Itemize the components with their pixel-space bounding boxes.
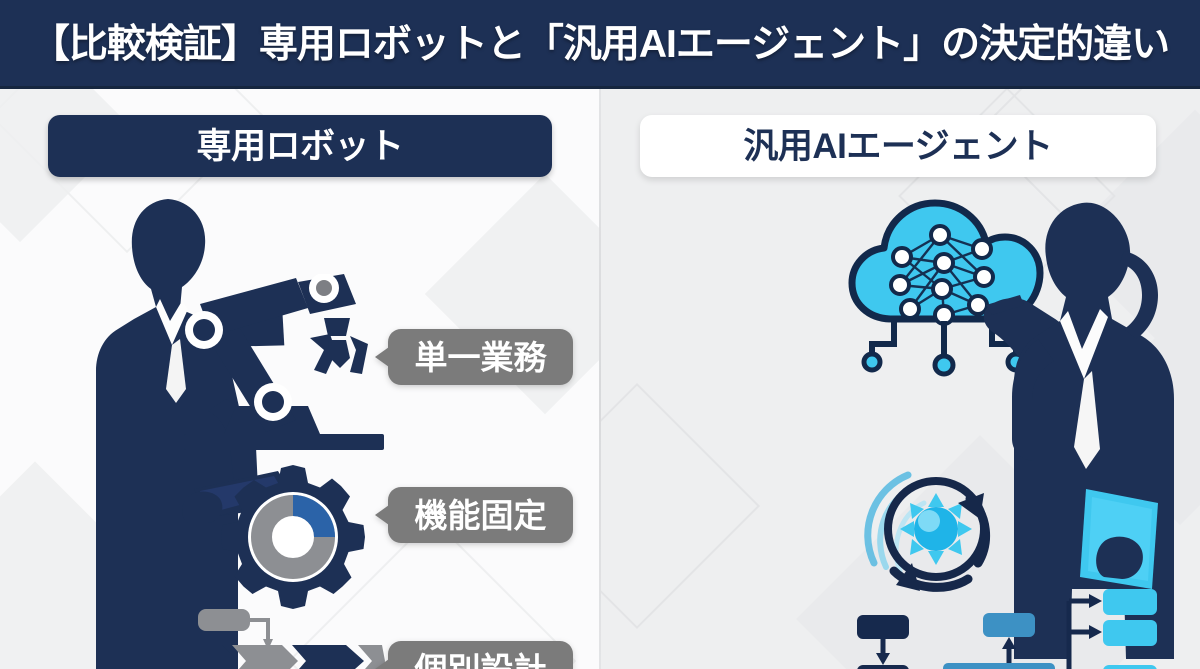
badge-individual-design: 個別設計	[388, 641, 573, 669]
infographic-canvas: 【比較検証】専用ロボットと「汎用AIエージェント」の決定的違い 専用ロボット	[0, 0, 1200, 669]
branching-flow-chart-illustration	[855, 589, 1200, 669]
panel-general-ai-agent: 汎用AIエージェント	[600, 89, 1200, 669]
orbiting-sphere-illustration	[850, 467, 1020, 607]
panel-header-label: 汎用AIエージェント	[743, 129, 1052, 164]
badge-label: 機能固定	[415, 499, 547, 532]
linear-process-flow-illustration	[160, 607, 385, 669]
badge-label: 個別設計	[415, 653, 547, 669]
panel-divider	[599, 89, 601, 669]
bg-diamond	[600, 383, 760, 629]
gear-with-donut-chart-illustration	[218, 462, 368, 612]
badge-single-task: 単一業務	[388, 329, 573, 385]
panel-dedicated-robot: 専用ロボット	[0, 89, 600, 669]
panel-header-general-ai-agent: 汎用AIエージェント	[640, 115, 1156, 177]
panel-header-label: 専用ロボット	[196, 129, 403, 164]
title-bar: 【比較検証】専用ロボットと「汎用AIエージェント」の決定的違い	[0, 0, 1200, 89]
page-title: 【比較検証】専用ロボットと「汎用AIエージェント」の決定的違い	[31, 25, 1169, 64]
badge-fixed-function: 機能固定	[388, 487, 573, 543]
robot-arm-illustration	[178, 274, 393, 459]
badge-label: 単一業務	[415, 341, 547, 374]
panel-header-dedicated-robot: 専用ロボット	[48, 115, 552, 177]
